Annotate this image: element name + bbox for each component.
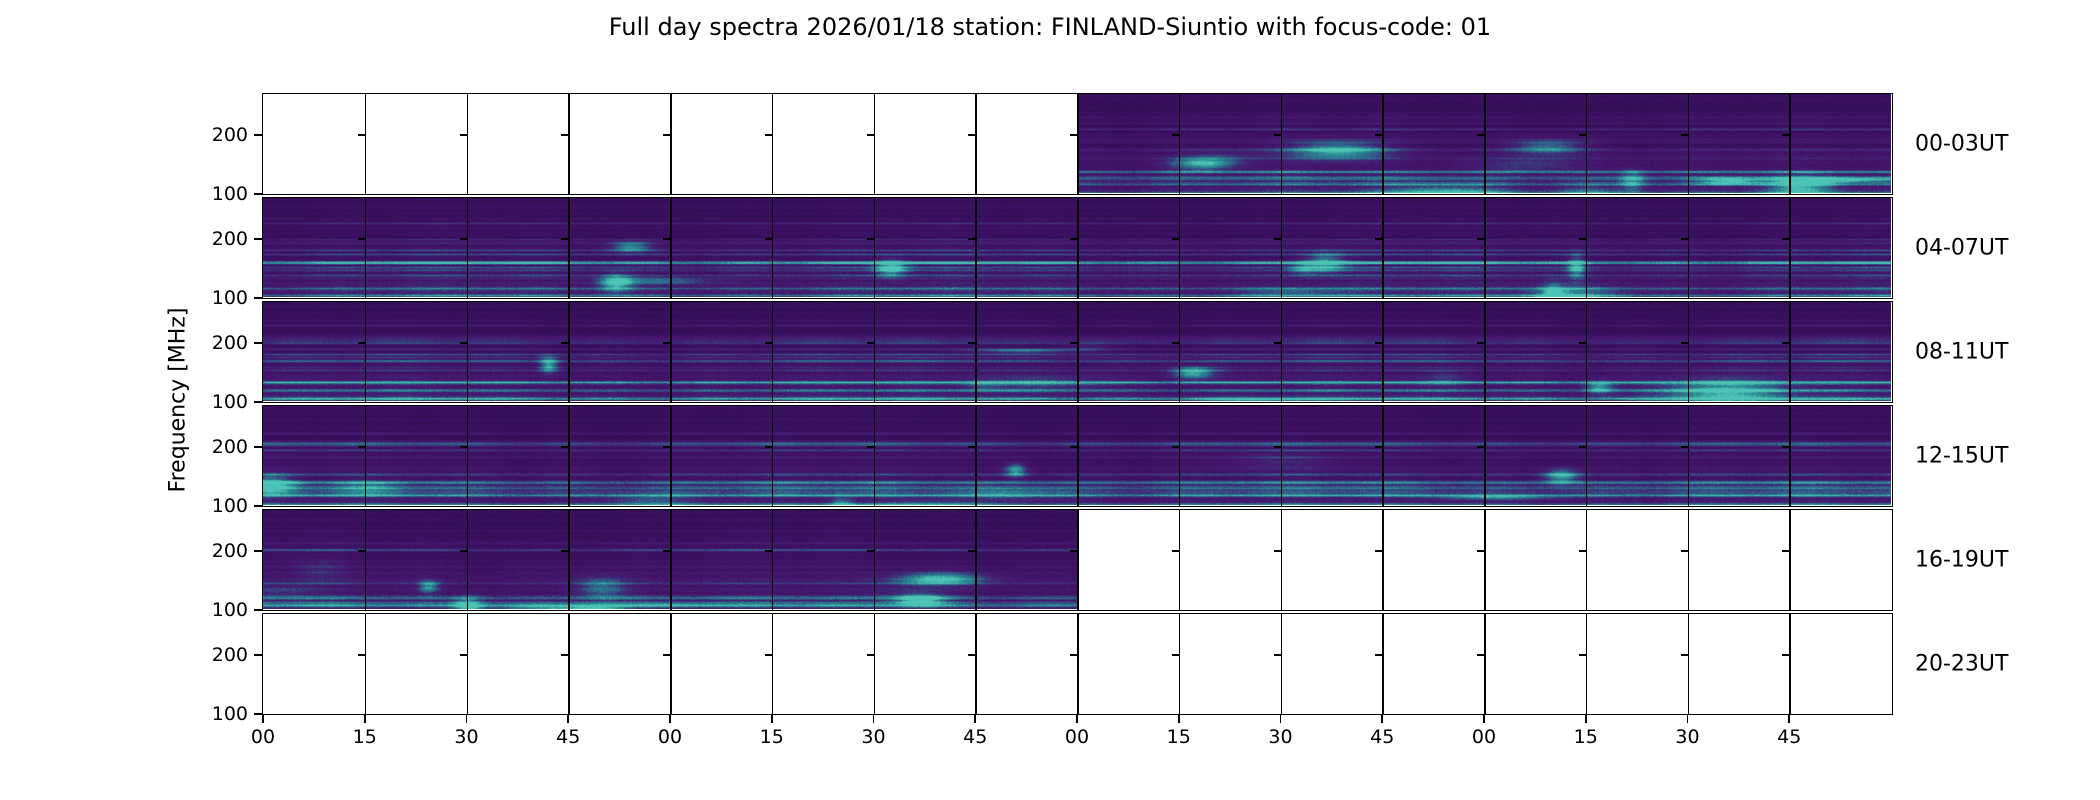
figure-title: Full day spectra 2026/01/18 station: FIN…	[0, 13, 2100, 41]
panel-divider	[1281, 614, 1283, 714]
x-tick-label: 45	[556, 726, 580, 748]
panel-divider	[1179, 614, 1181, 714]
panel-divider	[1789, 614, 1791, 714]
y-tick-label-100: 100	[192, 599, 248, 621]
panel-divider	[670, 614, 672, 714]
y-tick-label-100: 100	[192, 287, 248, 309]
panel-divider	[568, 94, 570, 194]
x-tick-label: 15	[1574, 726, 1598, 748]
spectrogram-image-04-07ut	[263, 198, 1891, 297]
spectrogram-row-12-15ut[interactable]	[262, 405, 1893, 507]
x-tick-mark	[771, 715, 773, 723]
figure-canvas: Full day spectra 2026/01/18 station: FIN…	[0, 0, 2100, 800]
row-label-08-11ut: 08-11UT	[1915, 340, 2008, 365]
x-tick-label: 00	[1472, 726, 1496, 748]
x-tick-mark	[1178, 715, 1180, 723]
y-tick-mark	[254, 713, 262, 715]
x-tick-label: 15	[1167, 726, 1191, 748]
x-tick-label: 00	[251, 726, 275, 748]
panel-divider	[670, 94, 672, 194]
x-tick-label: 30	[1675, 726, 1699, 748]
y-tick-mark	[254, 654, 262, 656]
x-tick-mark	[262, 715, 264, 723]
y-tick-label-200: 200	[192, 540, 248, 562]
y-tick-label-200: 200	[192, 228, 248, 250]
y-tick-label-200: 200	[192, 436, 248, 458]
x-tick-label: 15	[353, 726, 377, 748]
spectrogram-image-12-15ut	[263, 406, 1891, 505]
y-tick-mark	[254, 609, 262, 611]
y-tick-mark	[254, 505, 262, 507]
x-tick-label: 30	[454, 726, 478, 748]
row-label-04-07ut: 04-07UT	[1915, 236, 2008, 261]
panel-divider	[1484, 614, 1486, 714]
panel-divider	[1077, 614, 1079, 714]
spectrogram-image-16-19ut	[263, 510, 1077, 609]
y-tick-label-200: 200	[192, 644, 248, 666]
panel-divider	[772, 614, 774, 714]
y-tick-mark	[254, 446, 262, 448]
y-tick-mark	[254, 238, 262, 240]
row-label-12-15ut: 12-15UT	[1915, 444, 2008, 469]
x-tick-mark	[1585, 715, 1587, 723]
x-tick-mark	[364, 715, 366, 723]
panel-divider	[1281, 510, 1283, 610]
panel-divider	[1586, 510, 1588, 610]
panel-divider	[365, 614, 367, 714]
x-tick-mark	[1788, 715, 1790, 723]
y-tick-mark	[254, 342, 262, 344]
x-tick-mark	[669, 715, 671, 723]
x-tick-mark	[1381, 715, 1383, 723]
x-tick-mark	[873, 715, 875, 723]
y-tick-mark	[254, 550, 262, 552]
panel-divider	[1382, 510, 1384, 610]
panel-divider	[1179, 510, 1181, 610]
panel-divider	[1484, 510, 1486, 610]
x-tick-mark	[1687, 715, 1689, 723]
x-tick-mark	[974, 715, 976, 723]
row-label-00-03ut: 00-03UT	[1915, 132, 2008, 157]
spectrogram-image-00-03ut	[1077, 94, 1891, 193]
panel-divider	[1586, 614, 1588, 714]
spectrogram-image-08-11ut	[263, 302, 1891, 401]
row-label-16-19ut: 16-19UT	[1915, 548, 2008, 573]
panel-divider	[772, 94, 774, 194]
panel-divider	[1382, 614, 1384, 714]
x-tick-mark	[1483, 715, 1485, 723]
x-tick-mark	[1076, 715, 1078, 723]
panel-divider	[874, 614, 876, 714]
spectrogram-row-20-23ut[interactable]	[262, 613, 1893, 715]
y-tick-label-200: 200	[192, 124, 248, 146]
panel-divider	[467, 614, 469, 714]
row-label-20-23ut: 20-23UT	[1915, 652, 2008, 677]
x-tick-label: 30	[1268, 726, 1292, 748]
x-tick-label: 30	[861, 726, 885, 748]
x-tick-mark	[466, 715, 468, 723]
panel-divider	[975, 614, 977, 714]
x-tick-label: 45	[1777, 726, 1801, 748]
x-tick-label: 15	[760, 726, 784, 748]
y-tick-mark	[254, 401, 262, 403]
panel-divider	[1688, 510, 1690, 610]
x-tick-label: 45	[963, 726, 987, 748]
y-tick-mark	[254, 193, 262, 195]
panel-divider	[874, 94, 876, 194]
x-tick-label: 00	[1065, 726, 1089, 748]
panel-divider	[975, 94, 977, 194]
x-tick-mark	[1280, 715, 1282, 723]
y-axis-label: Frequency [MHz]	[166, 308, 191, 493]
panel-divider	[568, 614, 570, 714]
y-tick-label-100: 100	[192, 183, 248, 205]
y-tick-label-100: 100	[192, 703, 248, 725]
x-tick-label: 45	[1370, 726, 1394, 748]
panel-divider	[1077, 510, 1079, 610]
y-tick-label-100: 100	[192, 391, 248, 413]
spectrogram-row-16-19ut[interactable]	[262, 509, 1893, 611]
spectrogram-row-00-03ut[interactable]	[262, 93, 1893, 195]
panel-divider	[467, 94, 469, 194]
panel-divider	[1688, 614, 1690, 714]
spectrogram-row-08-11ut[interactable]	[262, 301, 1893, 403]
panel-divider	[365, 94, 367, 194]
x-tick-mark	[567, 715, 569, 723]
panel-divider	[1789, 510, 1791, 610]
y-tick-label-100: 100	[192, 495, 248, 517]
y-tick-label-200: 200	[192, 332, 248, 354]
spectrogram-row-04-07ut[interactable]	[262, 197, 1893, 299]
y-tick-mark	[254, 134, 262, 136]
y-tick-mark	[254, 297, 262, 299]
x-tick-label: 00	[658, 726, 682, 748]
